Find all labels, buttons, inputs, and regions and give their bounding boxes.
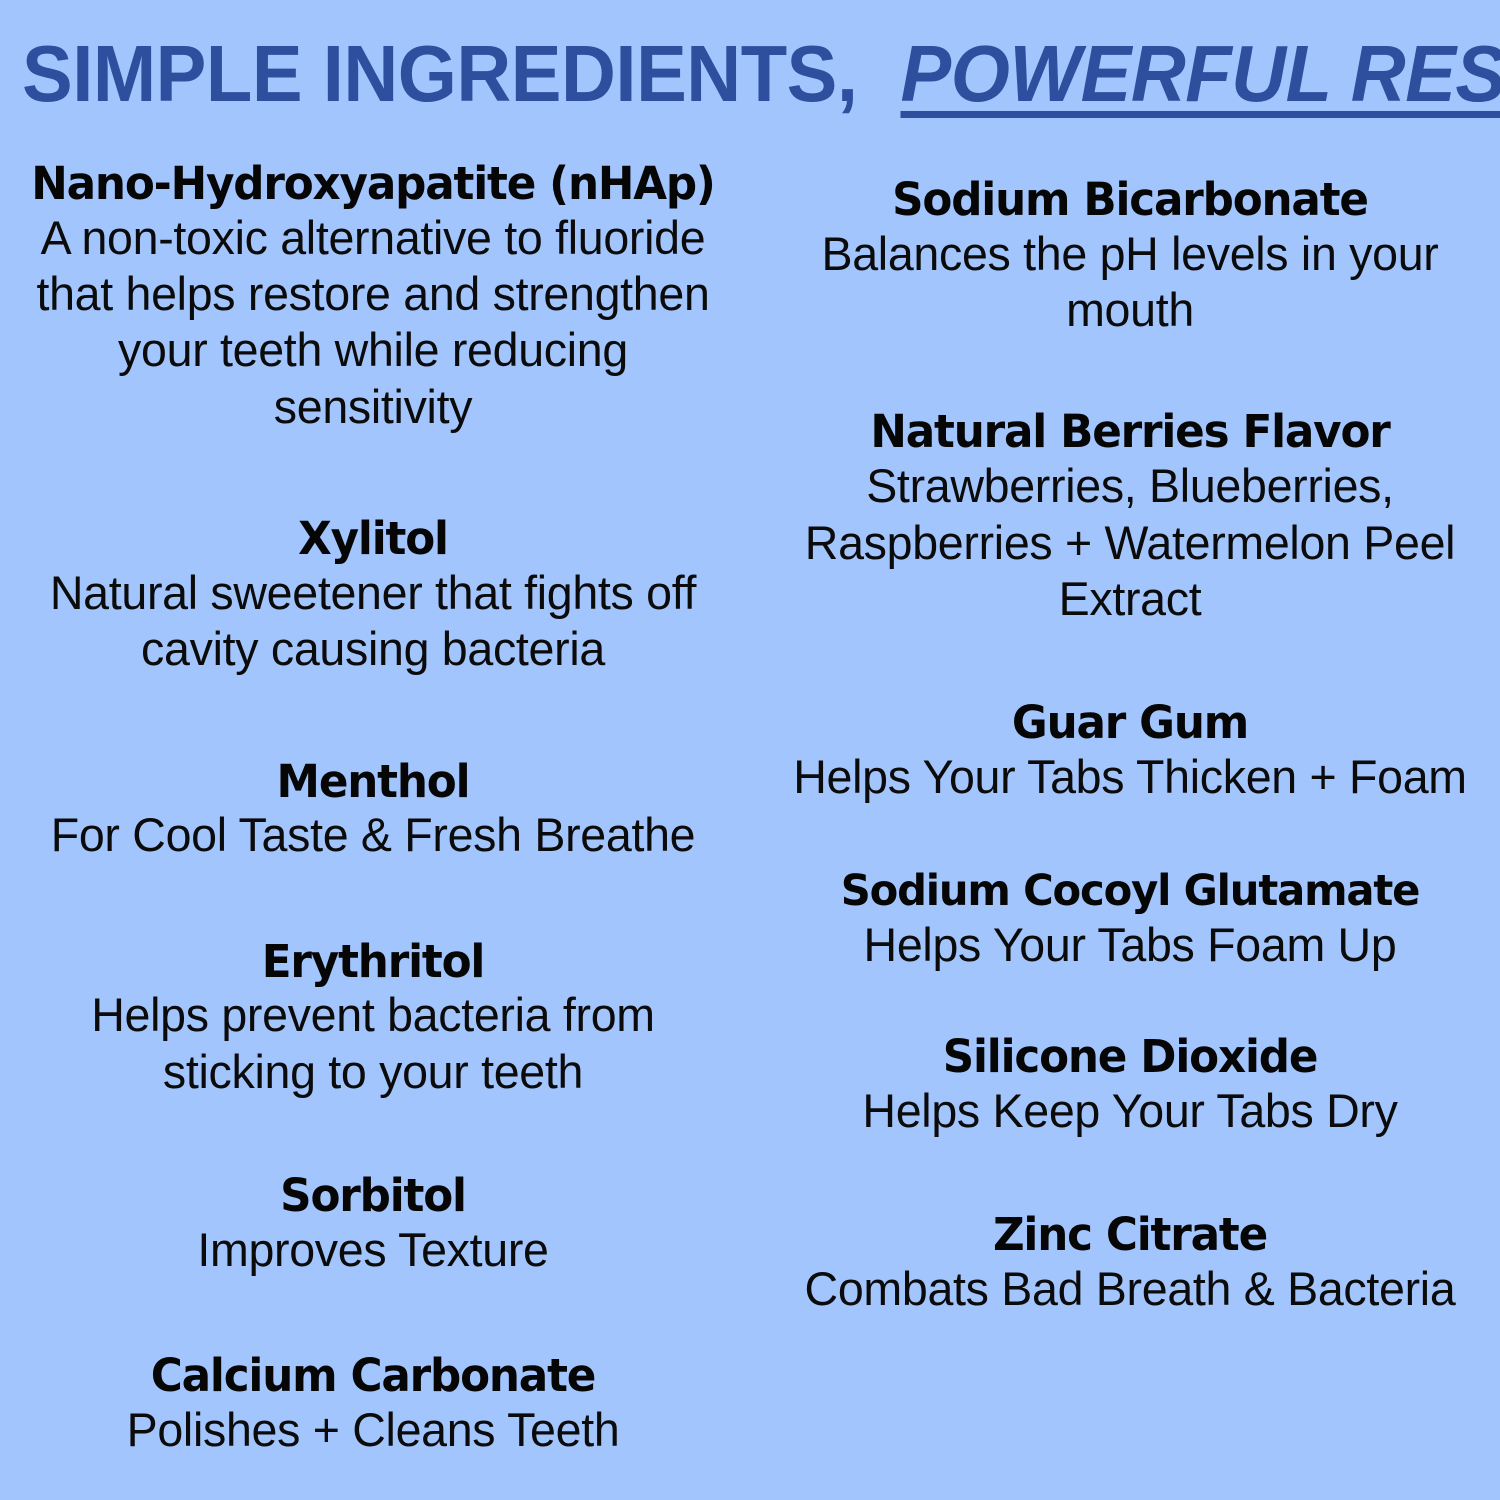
poster-title: SIMPLE INGREDIENTS,POWERFUL RESULTS.: [0, 34, 1500, 114]
left-column: Nano-Hydroxyapatite (nHAp) A non-toxic a…: [0, 150, 750, 1458]
ingredient-description: Helps Keep Your Tabs Dry: [776, 1083, 1485, 1139]
ingredient-description: Polishes + Cleans Teeth: [14, 1402, 733, 1458]
ingredient-description: Strawberries, Blueberries, Raspberries +…: [776, 458, 1485, 627]
ingredient-name: Xylitol: [21, 515, 725, 563]
ingredient-description: Helps Your Tabs Thicken + Foam: [776, 749, 1485, 805]
ingredient-name: Erythritol: [21, 938, 725, 986]
ingredient-name: Nano-Hydroxyapatite (nHAp): [21, 160, 725, 208]
ingredient-item: Xylitol Natural sweetener that fights of…: [10, 515, 736, 677]
ingredient-item: Calcium Carbonate Polishes + Cleans Teet…: [10, 1352, 736, 1458]
ingredient-description: Helps prevent bacteria from sticking to …: [14, 987, 733, 1100]
ingredient-item: Natural Berries Flavor Strawberries, Blu…: [772, 408, 1488, 627]
ingredient-description: Natural sweetener that fights off cavity…: [14, 565, 733, 678]
ingredient-name: Guar Gum: [783, 699, 1478, 747]
ingredient-name: Sorbitol: [21, 1172, 725, 1220]
ingredient-item: Zinc Citrate Combats Bad Breath & Bacter…: [772, 1211, 1488, 1317]
ingredient-description: For Cool Taste & Fresh Breathe: [14, 807, 733, 863]
ingredient-item: Guar Gum Helps Your Tabs Thicken + Foam: [772, 699, 1488, 805]
ingredient-name: Sodium Bicarbonate: [783, 176, 1478, 224]
title-part-one: SIMPLE INGREDIENTS,: [22, 34, 858, 114]
ingredient-name: Silicone Dioxide: [783, 1033, 1478, 1081]
ingredient-description: Combats Bad Breath & Bacteria: [776, 1261, 1485, 1317]
ingredient-item: Sodium Cocoyl Glutamate Helps Your Tabs …: [772, 869, 1488, 973]
ingredient-description: Improves Texture: [14, 1222, 733, 1278]
ingredient-item: Sorbitol Improves Texture: [10, 1172, 736, 1278]
ingredients-columns: Nano-Hydroxyapatite (nHAp) A non-toxic a…: [0, 150, 1500, 1500]
ingredient-item: Erythritol Helps prevent bacteria from s…: [10, 938, 736, 1100]
ingredient-item: Menthol For Cool Taste & Fresh Breathe: [10, 758, 736, 864]
ingredient-name: Natural Berries Flavor: [783, 408, 1478, 456]
right-column: Sodium Bicarbonate Balances the pH level…: [750, 150, 1500, 1318]
ingredient-name: Menthol: [21, 758, 725, 806]
ingredients-poster: SIMPLE INGREDIENTS,POWERFUL RESULTS. Nan…: [0, 0, 1500, 1500]
ingredient-description: Helps Your Tabs Foam Up: [776, 917, 1485, 973]
ingredient-name: Zinc Citrate: [783, 1211, 1478, 1259]
ingredient-name: Calcium Carbonate: [21, 1352, 725, 1400]
title-part-two-emphasis: POWERFUL RESULTS.: [901, 34, 1500, 114]
ingredient-name: Sodium Cocoyl Glutamate: [783, 869, 1478, 915]
ingredient-item: Silicone Dioxide Helps Keep Your Tabs Dr…: [772, 1033, 1488, 1139]
ingredient-item: Sodium Bicarbonate Balances the pH level…: [772, 176, 1488, 338]
ingredient-description: Balances the pH levels in your mouth: [776, 226, 1485, 339]
ingredient-item: Nano-Hydroxyapatite (nHAp) A non-toxic a…: [10, 160, 736, 435]
ingredient-description: A non-toxic alternative to fluoride that…: [14, 210, 733, 436]
